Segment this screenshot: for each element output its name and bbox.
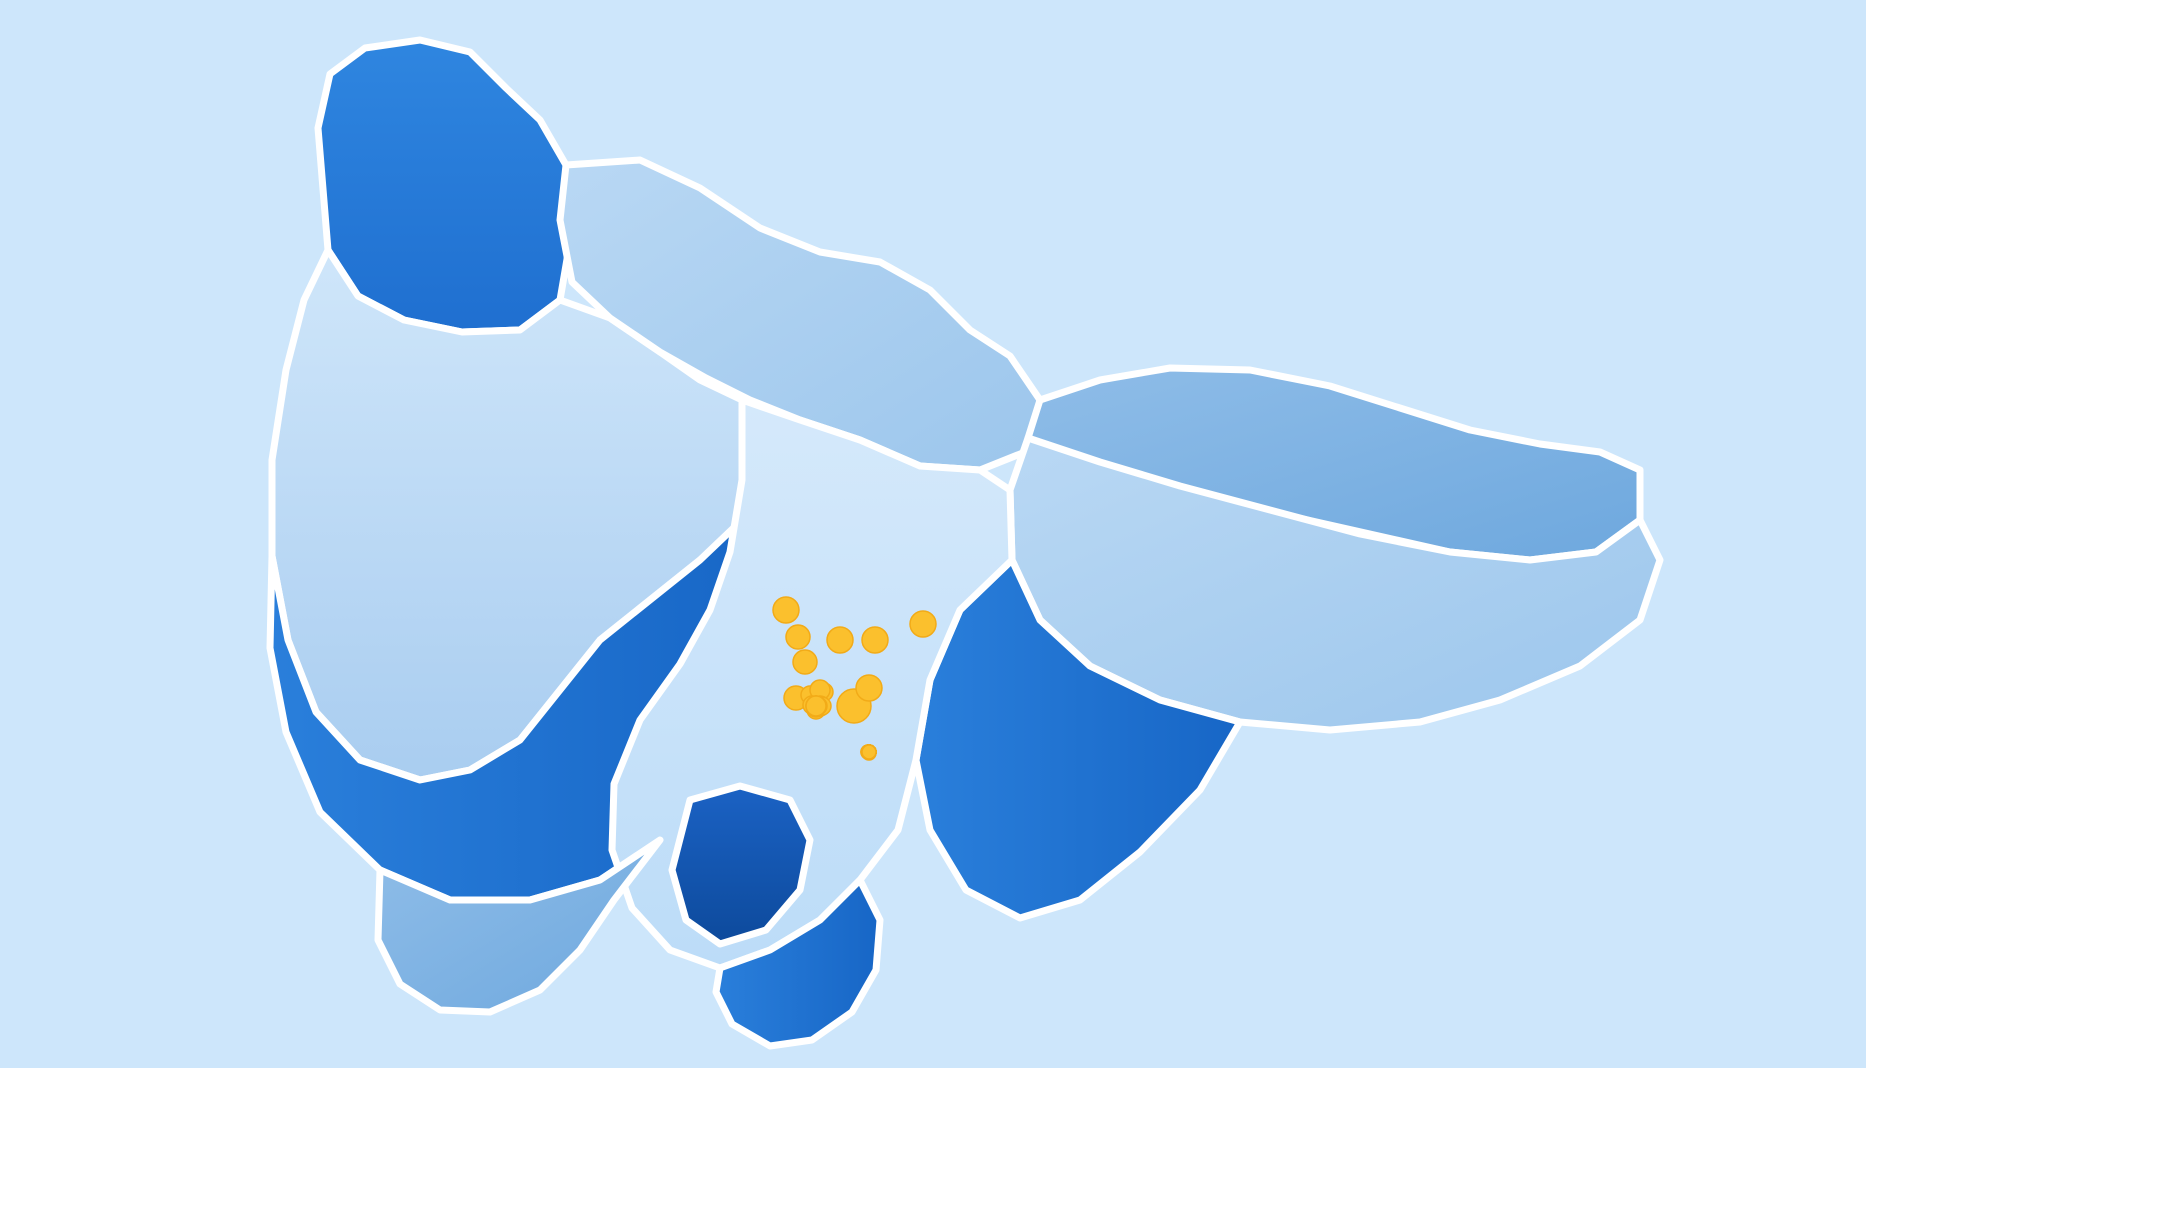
incident-marker [862,745,876,759]
incident-marker [827,627,853,653]
incident-marker [793,650,817,674]
incident-marker [910,611,936,637]
incident-marker [856,675,882,701]
slide-canvas: Unable to parse any validly-formatted fu… [0,0,1866,1068]
incident-marker [786,625,810,649]
incident-marker [773,597,799,623]
district-map: Unable to parse any validly-formatted fu… [0,0,1866,1068]
incident-marker [806,696,826,716]
incident-marker [862,627,888,653]
